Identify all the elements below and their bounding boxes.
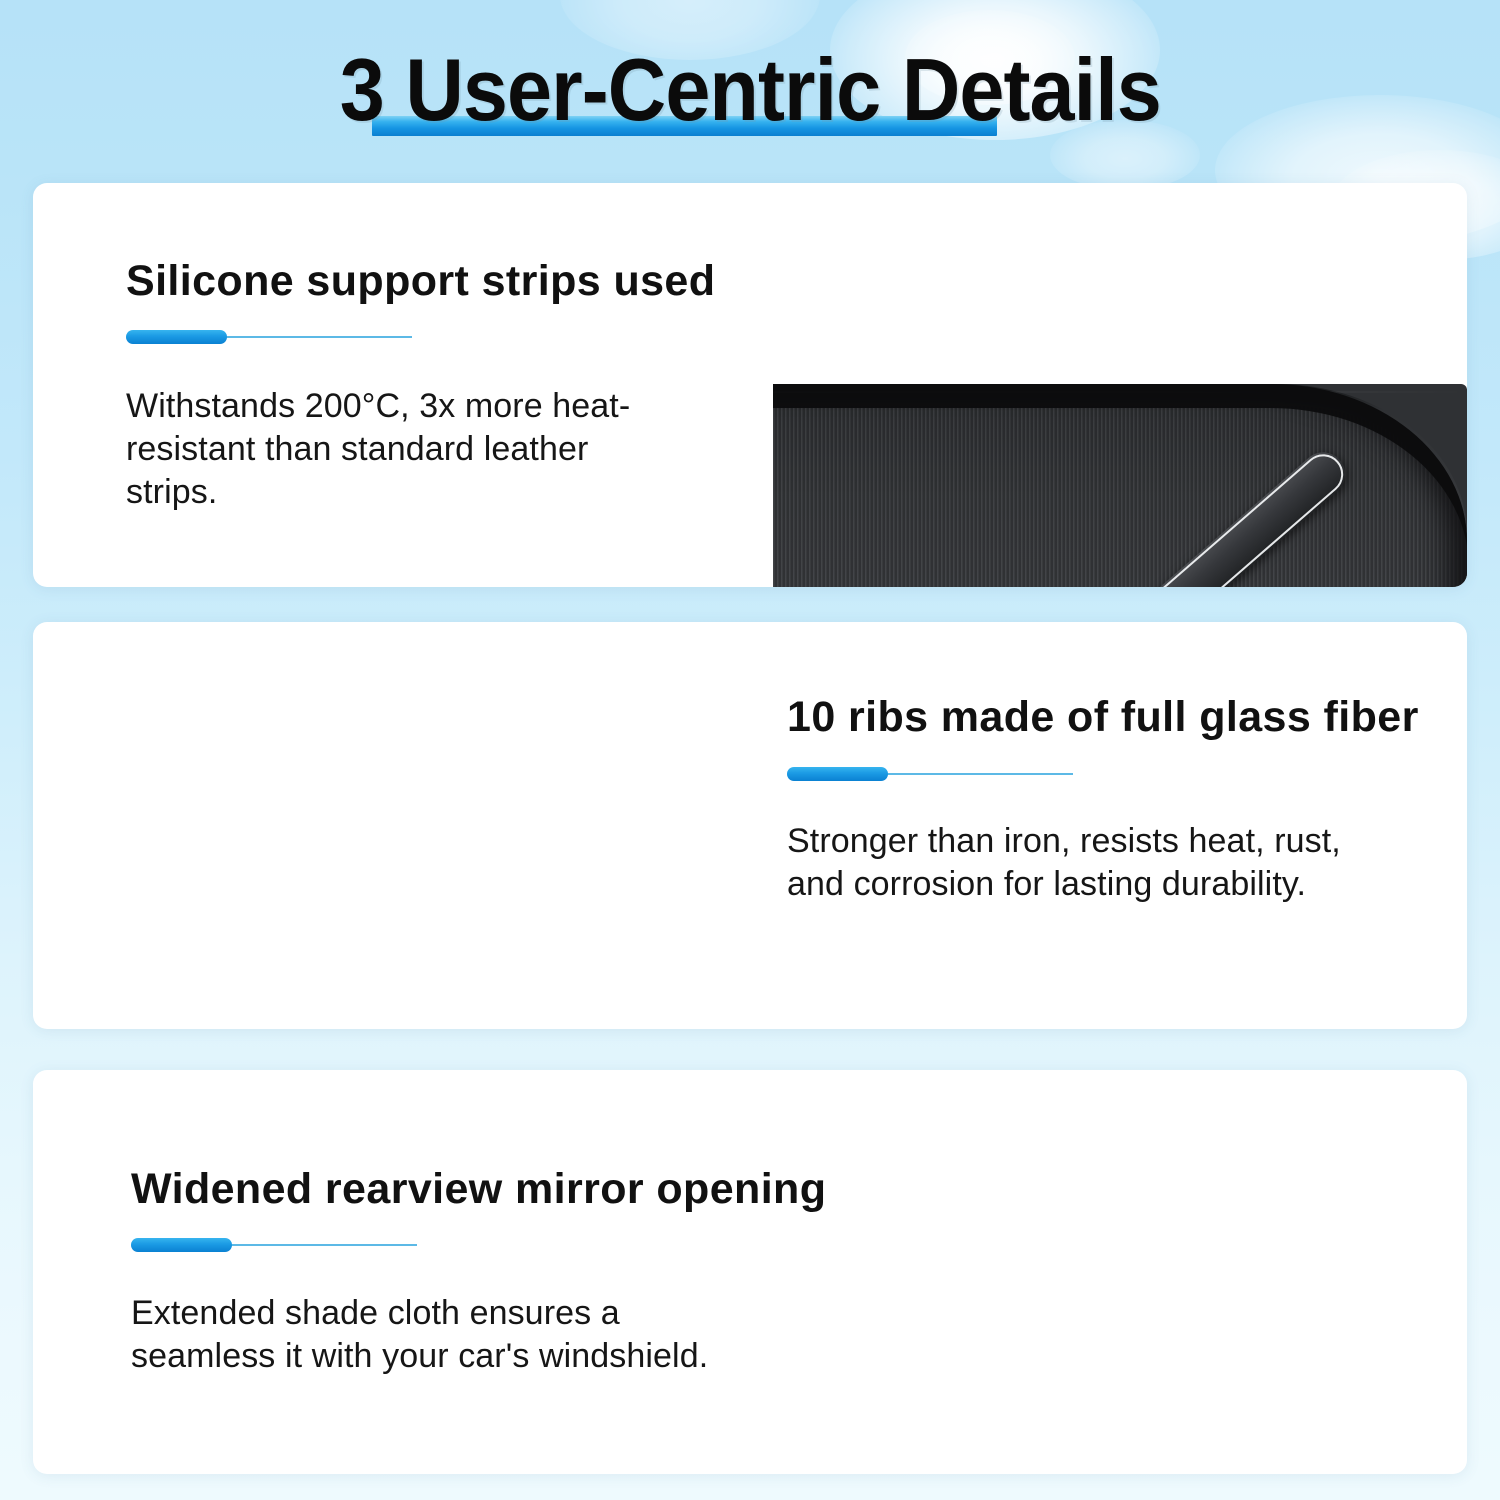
feature-card-1-accent-bar — [126, 330, 412, 344]
feature-card-2-body: Stronger than iron, resists heat, rust, … — [787, 820, 1397, 906]
feature-card-1-image — [773, 384, 1467, 587]
feature-card-1: Silicone support strips used Withstands … — [33, 183, 1467, 587]
feature-card-3: Widened rearview mirror opening Extended… — [33, 1070, 1467, 1474]
accent-thick-segment — [131, 1238, 232, 1252]
accent-thin-line — [222, 336, 412, 338]
accent-thick-segment — [787, 767, 888, 781]
page-header: 3 User-Centric Details — [0, 38, 1500, 148]
infographic-page: 3 User-Centric Details Silicone support … — [0, 0, 1500, 1500]
feature-card-3-body: Extended shade cloth ensures a seamless … — [131, 1292, 731, 1378]
feature-card-2-accent-bar — [787, 767, 1073, 781]
feature-card-1-heading: Silicone support strips used — [126, 256, 715, 306]
feature-card-3-accent-bar — [131, 1238, 417, 1252]
fabric-texture — [773, 406, 1467, 587]
page-title: 3 User-Centric Details — [339, 38, 1160, 142]
feature-card-2-heading: 10 ribs made of full glass fiber — [787, 692, 1467, 742]
title-wrapper: 3 User-Centric Details — [304, 38, 1197, 142]
accent-thin-line — [227, 1244, 417, 1246]
edge-highlight — [773, 391, 1467, 393]
accent-thick-segment — [126, 330, 227, 344]
feature-card-2: 10 ribs made of full glass fiber Stronge… — [33, 622, 1467, 1029]
feature-card-3-heading: Widened rearview mirror opening — [131, 1164, 826, 1214]
feature-card-1-body: Withstands 200°C, 3x more heat-resistant… — [126, 385, 646, 514]
accent-thin-line — [883, 773, 1073, 775]
